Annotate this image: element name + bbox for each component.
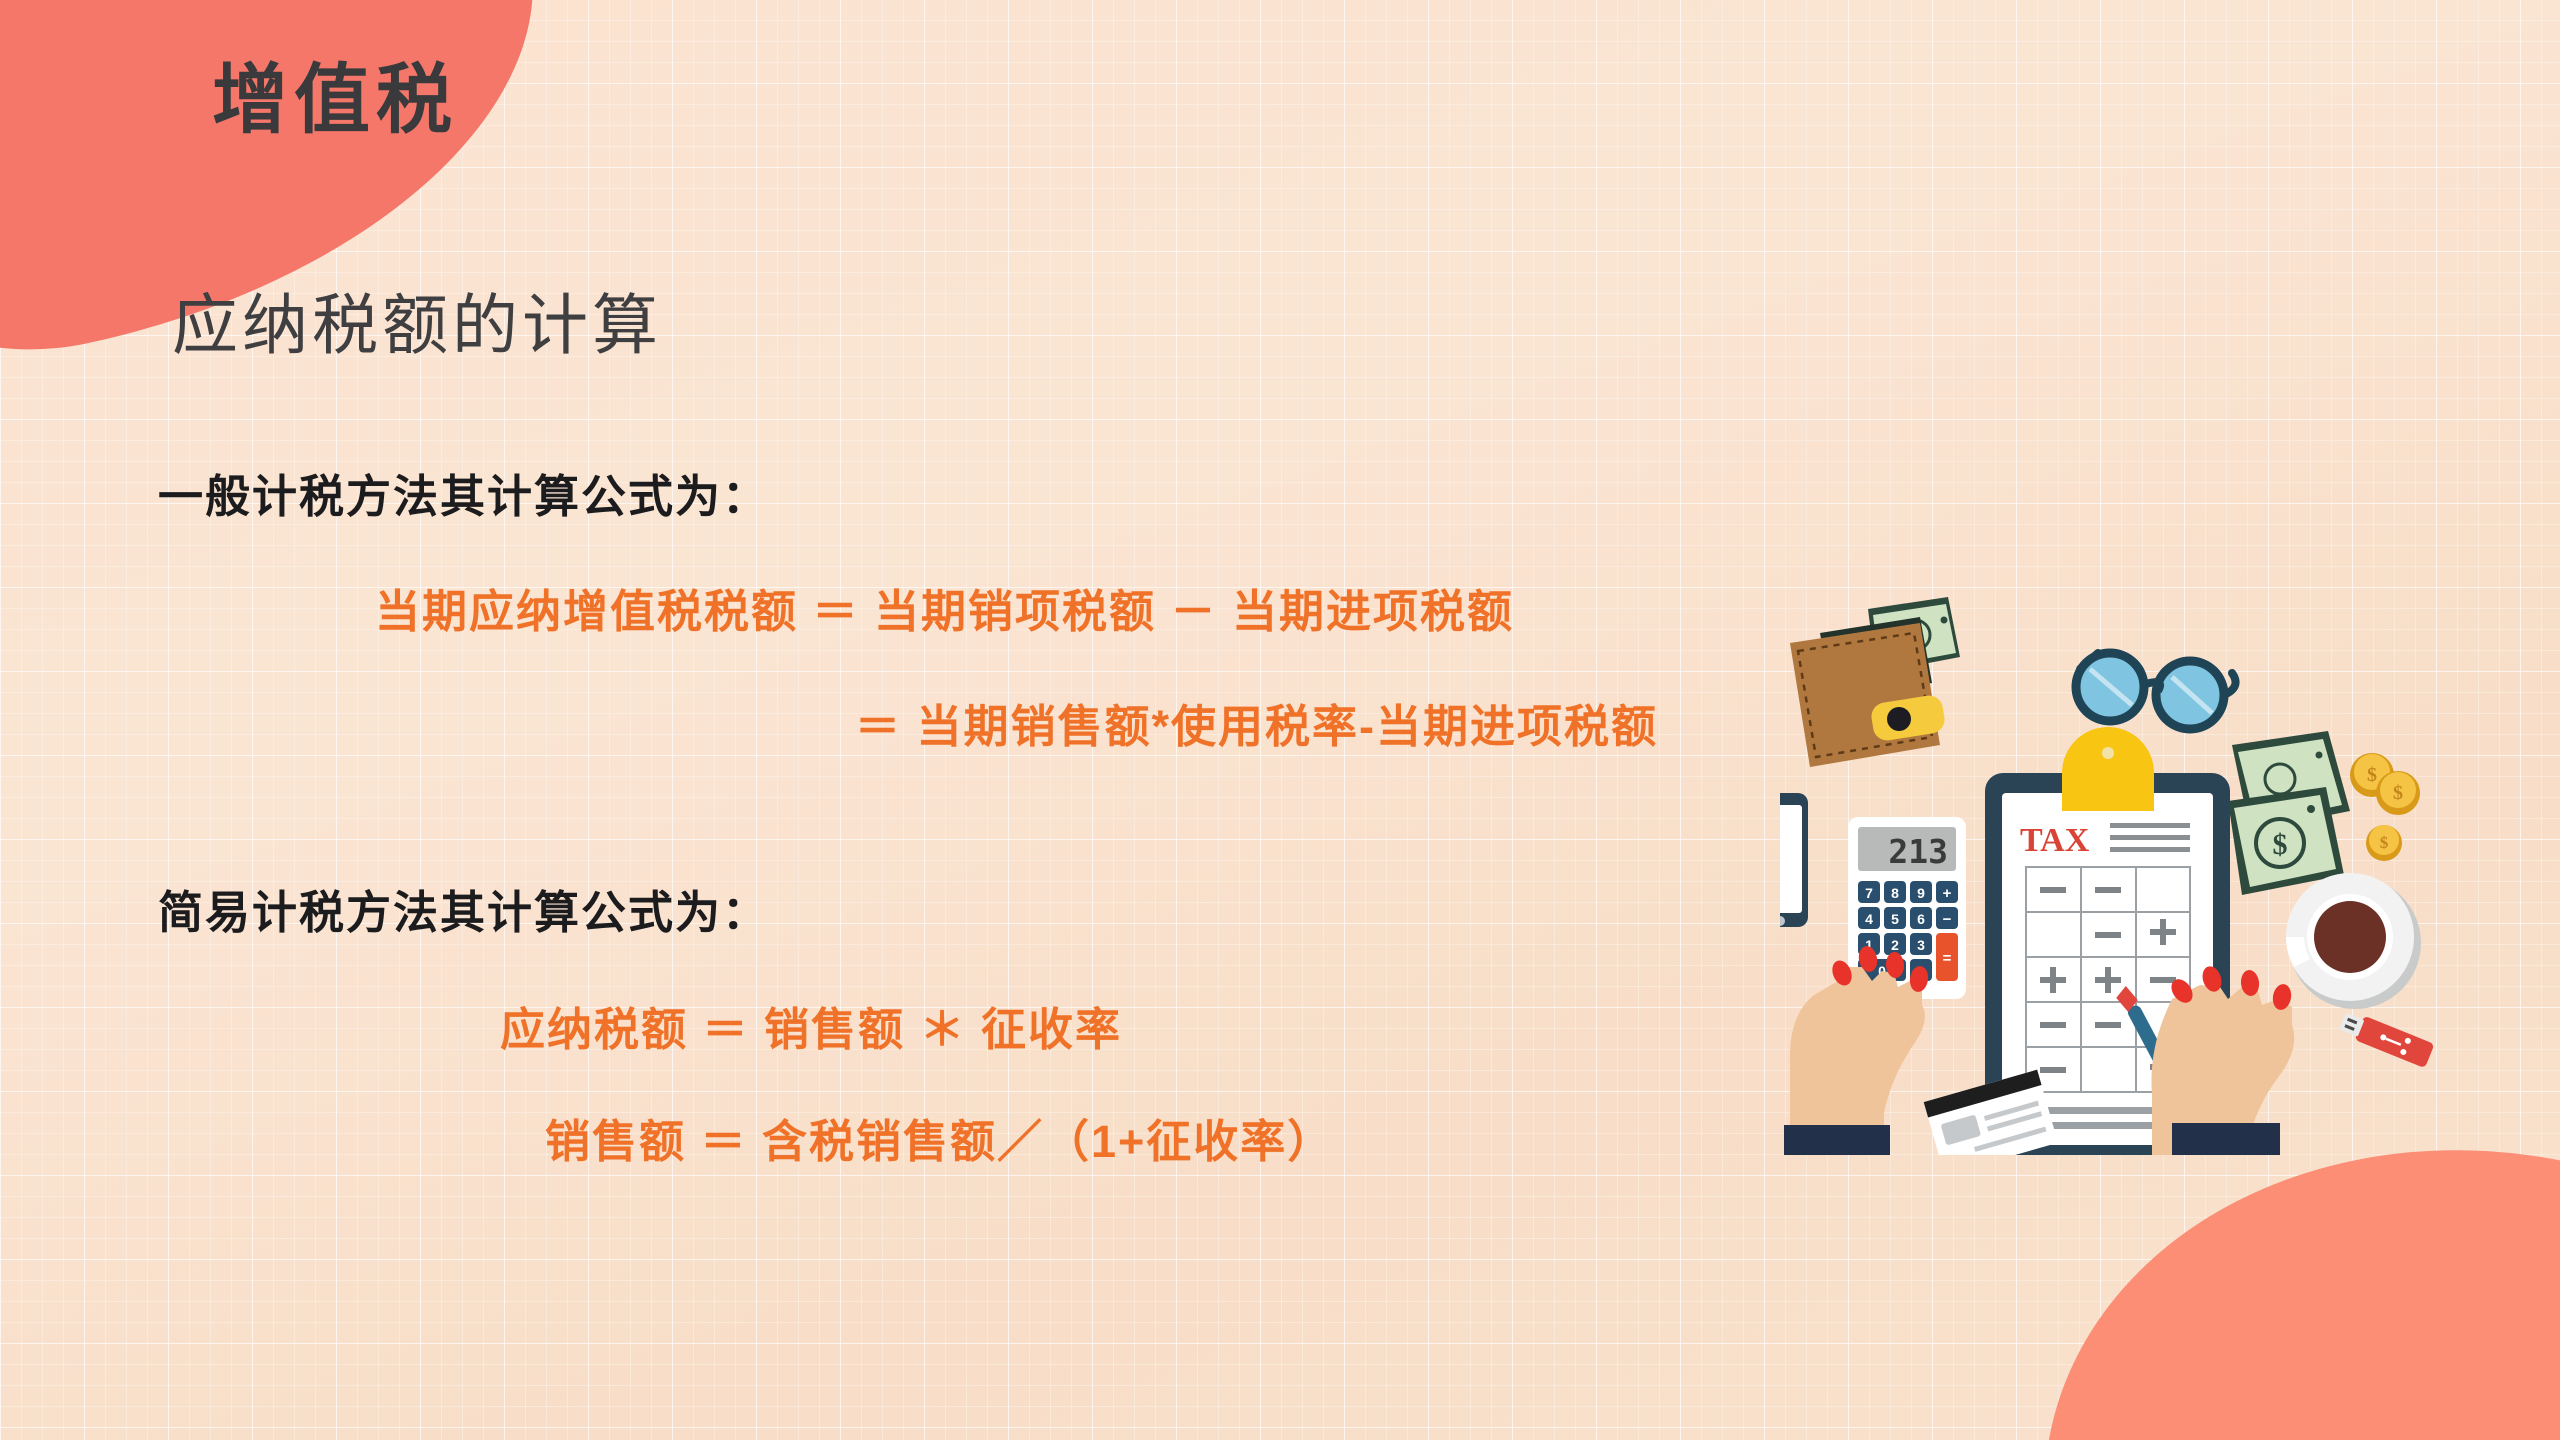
svg-text:$: $ [2393,782,2403,804]
formula-simple-line-1: 应纳税额 ＝ 销售额 ＊ 征收率 [500,993,1122,1058]
formula-general-line-2: ＝ 当期销售额*使用税率-当期进项税额 [855,690,1658,755]
page-title: 增值税 [212,38,458,148]
svg-text:3: 3 [1917,937,1925,953]
lead-general-method: 一般计税方法其计算公式为： [158,460,769,525]
coffee-cup-icon [2286,873,2421,1009]
slide-canvas: 增值税 应纳税额的计算 一般计税方法其计算公式为： 当期应纳增值税税额 ＝ 当期… [0,0,2560,1440]
calculator-display: 213 [1888,832,1948,871]
calculator-icon: 213 7 8 9 + 4 5 6 − 1 2 3 = 0 * [1848,817,1966,999]
lead-simple-method: 简易计税方法其计算公式为： [158,876,769,941]
svg-text:2: 2 [1891,937,1899,953]
svg-text:4: 4 [1865,911,1873,927]
svg-text:9: 9 [1917,885,1925,901]
svg-text:=: = [1943,950,1952,967]
section-title: 应纳税额的计算 [172,272,662,368]
gold-coins-icon: $ $ $ [2350,753,2420,861]
svg-text:6: 6 [1917,911,1925,927]
tax-desk-illustration-svg: $ [1780,595,2480,1155]
eyeglasses-icon [2076,653,2236,729]
svg-text:+: + [1943,885,1952,902]
clipboard-title: TAX [2020,822,2090,859]
svg-text:−: − [1943,911,1952,928]
formula-general-line-1: 当期应纳增值税税额 ＝ 当期销项税额 － 当期进项税额 [375,575,1514,640]
svg-text:5: 5 [1891,911,1899,927]
svg-text:7: 7 [1865,885,1873,901]
banknotes-icon: $ [2228,731,2350,895]
svg-text:$: $ [2273,828,2288,861]
svg-text:$: $ [2380,833,2389,852]
smartphone-icon [1780,793,1808,927]
formula-simple-line-2: 销售额 ＝ 含税销售额／（1+征收率） [545,1105,1334,1170]
svg-text:$: $ [2367,764,2377,786]
tax-desk-illustration: $ [1780,595,2480,1155]
wallet-icon [1790,617,1947,767]
svg-text:8: 8 [1891,885,1899,901]
usb-flash-drive-icon [2338,1009,2435,1068]
